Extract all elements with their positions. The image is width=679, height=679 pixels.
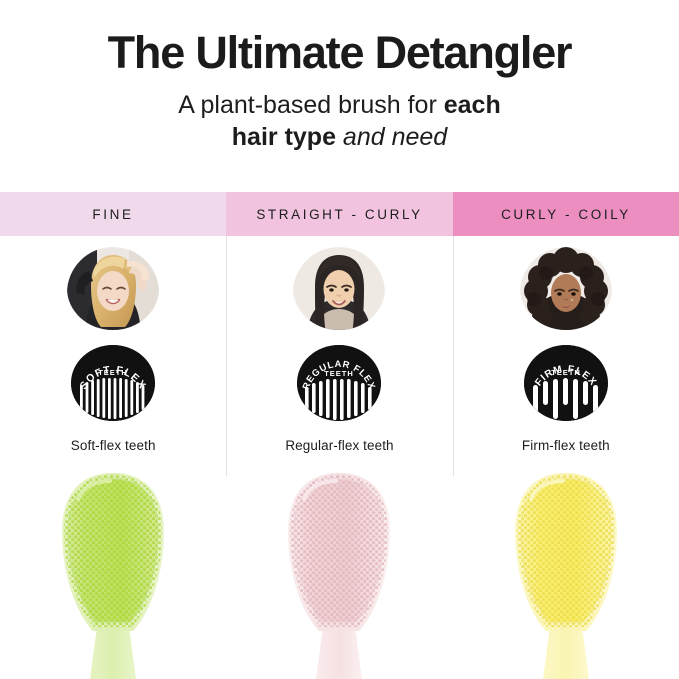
subtitle-line2-bold: hair type bbox=[232, 123, 336, 151]
caption-regular-flex: Regular-flex teeth bbox=[285, 438, 393, 453]
subtitle-line1-bold: each bbox=[444, 91, 501, 119]
comparison-columns: SOFT FLEX TEETH bbox=[0, 236, 679, 679]
model-photo-straight-curly-hair bbox=[293, 247, 385, 330]
caption-firm-flex: Firm-flex teeth bbox=[522, 438, 610, 453]
yellow-detangler-brush bbox=[491, 469, 641, 679]
hero-section: The Ultimate Detangler A plant-based bru… bbox=[0, 0, 679, 153]
pink-detangler-brush bbox=[264, 469, 414, 679]
page-title: The Ultimate Detangler bbox=[0, 30, 679, 75]
caption-soft-flex: Soft-flex teeth bbox=[71, 438, 156, 453]
column-fine: SOFT FLEX TEETH bbox=[0, 236, 226, 679]
column-straight-curly: REGULAR FLEX TEETH bbox=[226, 236, 452, 679]
page-subtitle: A plant-based brush for each hair type a… bbox=[0, 89, 679, 153]
firm-flex-teeth-badge: FIRM FLEX TEETH bbox=[524, 345, 608, 421]
model-photo-fine-hair bbox=[67, 247, 159, 330]
infographic-page: The Ultimate Detangler A plant-based bru… bbox=[0, 0, 679, 679]
svg-text:TEETH: TEETH bbox=[98, 368, 128, 377]
column-curly-coily: FIRM FLEX TEETH Firm-flex teeth bbox=[453, 236, 679, 679]
category-band-straight-curly[interactable]: STRAIGHT - CURLY bbox=[226, 192, 453, 236]
svg-text:TEETH: TEETH bbox=[325, 369, 355, 378]
category-band-curly-coily[interactable]: CURLY - COILY bbox=[453, 192, 679, 236]
model-photo-curly-coily-hair bbox=[520, 247, 612, 330]
green-detangler-brush bbox=[38, 469, 188, 679]
svg-text:TEETH: TEETH bbox=[551, 368, 581, 377]
subtitle-line2-italic: and need bbox=[336, 123, 447, 151]
subtitle-line1-plain: A plant-based brush for bbox=[178, 91, 443, 119]
category-band-fine[interactable]: FINE bbox=[0, 192, 226, 236]
regular-flex-teeth-badge: REGULAR FLEX TEETH bbox=[297, 345, 381, 421]
category-band-row: FINE STRAIGHT - CURLY CURLY - COILY bbox=[0, 192, 679, 236]
soft-flex-teeth-badge: SOFT FLEX TEETH bbox=[71, 345, 155, 421]
